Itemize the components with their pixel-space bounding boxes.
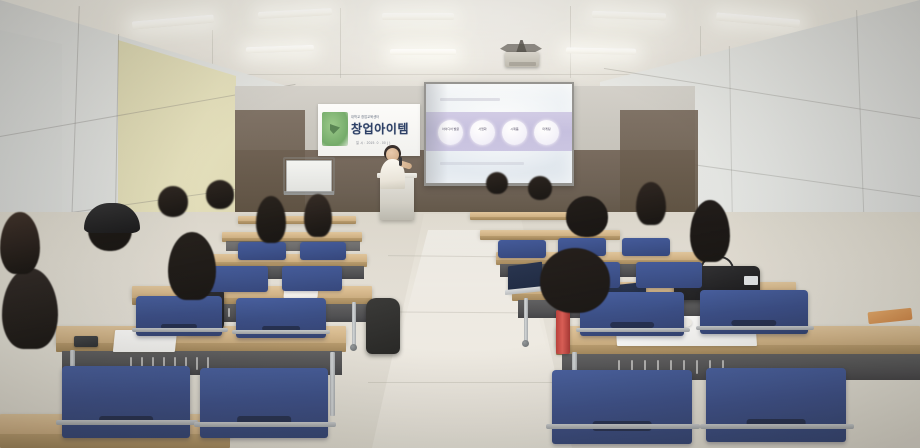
chair-frame xyxy=(696,326,814,330)
person-hair xyxy=(206,180,234,209)
slide-circle: 사업화 xyxy=(470,120,495,145)
slide-circle-label: 시제품 xyxy=(502,128,527,131)
person-hair xyxy=(636,182,666,225)
chair-frame xyxy=(546,424,700,429)
desk-caster xyxy=(350,344,357,351)
classroom-photo: 대학교 창업교육센터 창업아이템 일 시 : 2019. 0 . 00 ( ) … xyxy=(0,0,920,448)
desk-leg xyxy=(524,298,528,342)
person-hair xyxy=(486,172,508,194)
event-banner: 대학교 창업교육센터 창업아이템 일 시 : 2019. 0 . 00 ( ) xyxy=(318,104,420,156)
person-hair xyxy=(158,186,188,217)
person-hair xyxy=(690,200,730,262)
banner-footer: 일 시 : 2019. 0 . 00 ( ) xyxy=(356,140,414,145)
chair xyxy=(62,366,190,438)
person-hair xyxy=(528,176,552,200)
slide-circle-label: 마케팅 xyxy=(534,128,559,131)
person-hair xyxy=(304,194,332,237)
chair xyxy=(238,242,286,260)
slide-circle: 마케팅 xyxy=(534,120,559,145)
chair xyxy=(200,368,328,438)
chair xyxy=(282,266,342,291)
person-hair xyxy=(256,196,286,243)
smartphone xyxy=(74,336,98,347)
ceiling-light xyxy=(382,13,454,20)
slide-title-placeholder xyxy=(440,98,500,101)
banner-subtitle: 대학교 창업교육센터 xyxy=(351,114,415,119)
slide-circle: 시제품 xyxy=(502,120,527,145)
chair-frame xyxy=(576,328,690,332)
ceiling-light xyxy=(390,49,456,55)
floor-tile-line xyxy=(368,382,578,383)
person-hair xyxy=(540,248,610,313)
slide-body-placeholder xyxy=(440,162,524,165)
desk-leg xyxy=(330,352,335,416)
chair-frame xyxy=(232,330,330,334)
screen-edge-shadow xyxy=(426,84,448,183)
chair-frame xyxy=(700,424,854,429)
whiteboard-tray xyxy=(284,191,334,195)
green-leaf-logo xyxy=(322,112,348,146)
red-thermos xyxy=(556,310,570,354)
whiteboard xyxy=(286,160,332,192)
ceiling-seam xyxy=(340,8,341,78)
desk-leg xyxy=(352,302,356,346)
chair xyxy=(552,370,692,444)
chair xyxy=(706,368,846,442)
black-backpack xyxy=(366,298,400,354)
desk-edge xyxy=(470,217,578,220)
slide-circle-label: 사업화 xyxy=(470,128,495,131)
chair-frame xyxy=(194,422,336,427)
projector-label-plate xyxy=(509,62,536,66)
projection-screen: 아이디어 발굴사업화시제품마케팅 xyxy=(426,84,572,183)
chair-frame xyxy=(56,420,198,425)
banner-title: 창업아이템 xyxy=(351,120,420,137)
person-hair xyxy=(566,196,608,237)
chair-frame xyxy=(132,328,228,332)
person-hair xyxy=(0,212,40,274)
desk-caster xyxy=(522,340,529,347)
ceiling-seam xyxy=(570,6,571,78)
chair xyxy=(498,240,546,258)
chair xyxy=(622,238,670,256)
bag-tag xyxy=(744,276,758,285)
microphone xyxy=(399,157,402,166)
ceiling-light xyxy=(566,47,636,54)
chair xyxy=(636,262,702,288)
chair xyxy=(300,242,346,260)
